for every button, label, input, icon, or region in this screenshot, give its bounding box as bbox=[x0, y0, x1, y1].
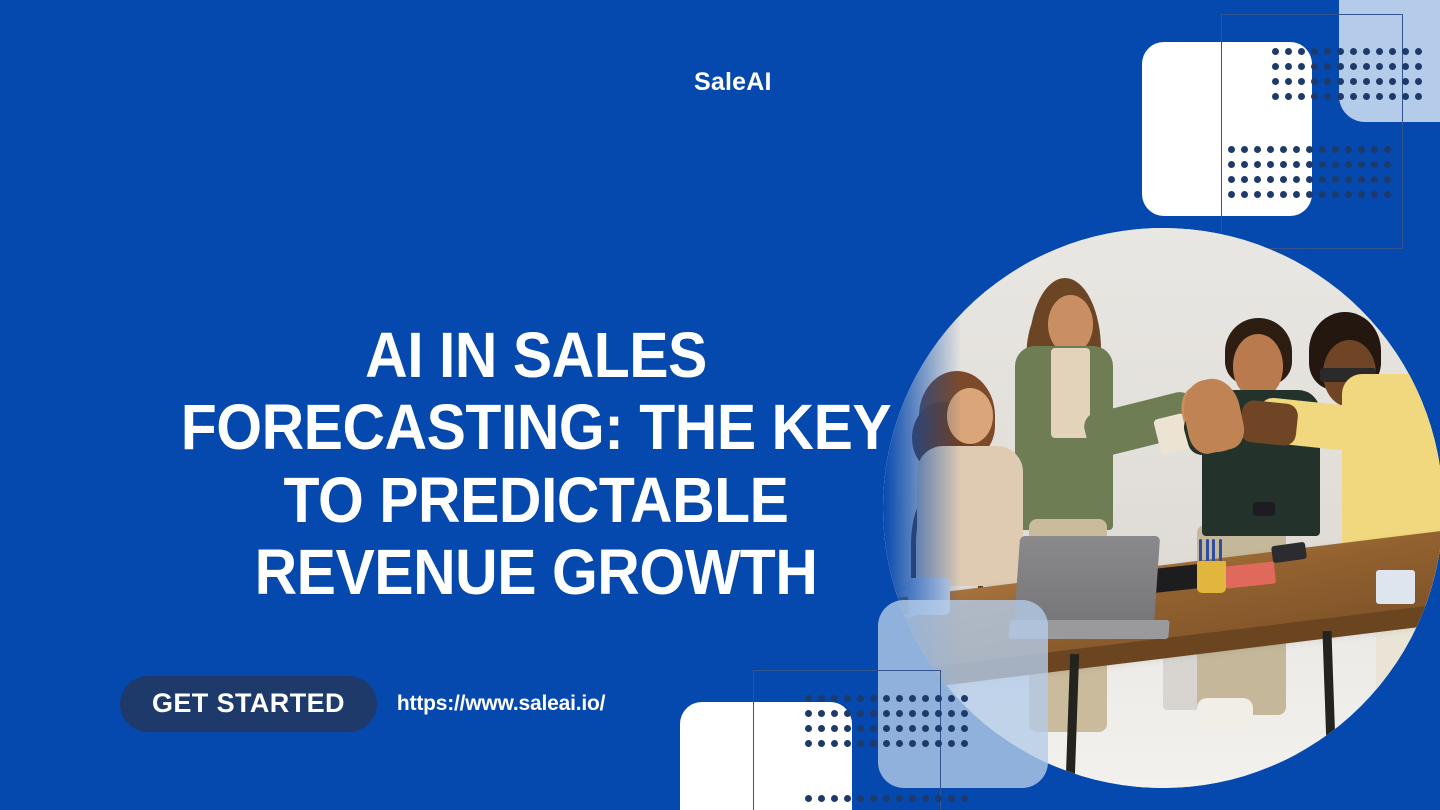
dot bbox=[1228, 146, 1235, 153]
dot bbox=[1415, 93, 1422, 100]
dot bbox=[1332, 161, 1339, 168]
dot bbox=[805, 740, 812, 747]
dot bbox=[1371, 161, 1378, 168]
dot bbox=[1345, 146, 1352, 153]
dot bbox=[1298, 63, 1305, 70]
dot bbox=[1337, 48, 1344, 55]
dot bbox=[1293, 146, 1300, 153]
dot bbox=[935, 710, 942, 717]
dot bbox=[857, 795, 864, 802]
dot bbox=[831, 795, 838, 802]
dot bbox=[844, 740, 851, 747]
dot bbox=[1280, 161, 1287, 168]
dot bbox=[1280, 191, 1287, 198]
dot bbox=[883, 710, 890, 717]
dot bbox=[1254, 146, 1261, 153]
dot bbox=[1345, 161, 1352, 168]
dot bbox=[870, 795, 877, 802]
dot bbox=[1324, 78, 1331, 85]
dot bbox=[1371, 191, 1378, 198]
dot bbox=[1402, 48, 1409, 55]
dot-grid-top-right-lower bbox=[1228, 146, 1397, 206]
dot bbox=[1311, 63, 1318, 70]
dot bbox=[818, 740, 825, 747]
dot bbox=[961, 795, 968, 802]
dot bbox=[857, 740, 864, 747]
dot bbox=[1358, 191, 1365, 198]
dot bbox=[961, 695, 968, 702]
dot bbox=[1267, 146, 1274, 153]
dot bbox=[1402, 78, 1409, 85]
dot bbox=[1415, 78, 1422, 85]
dot bbox=[1350, 78, 1357, 85]
dot bbox=[896, 795, 903, 802]
dot bbox=[1384, 191, 1391, 198]
person-shoe bbox=[1197, 698, 1253, 732]
dot bbox=[1415, 63, 1422, 70]
dot bbox=[844, 725, 851, 732]
dot bbox=[1306, 176, 1313, 183]
dot bbox=[857, 710, 864, 717]
dot bbox=[935, 695, 942, 702]
brand-logo: SaleAI bbox=[694, 68, 772, 97]
dot bbox=[1298, 78, 1305, 85]
dot bbox=[909, 695, 916, 702]
dot bbox=[1285, 93, 1292, 100]
dot bbox=[1337, 93, 1344, 100]
dot bbox=[896, 695, 903, 702]
dot bbox=[1358, 146, 1365, 153]
dot bbox=[1272, 48, 1279, 55]
dot bbox=[1371, 176, 1378, 183]
dot bbox=[883, 725, 890, 732]
dot bbox=[805, 710, 812, 717]
dot bbox=[844, 710, 851, 717]
dot bbox=[831, 740, 838, 747]
dot bbox=[1319, 191, 1326, 198]
dot bbox=[844, 695, 851, 702]
dot bbox=[1319, 161, 1326, 168]
dot bbox=[1298, 48, 1305, 55]
dot bbox=[1241, 146, 1248, 153]
dot bbox=[922, 695, 929, 702]
dot bbox=[1285, 78, 1292, 85]
coffee-mug bbox=[1376, 570, 1415, 605]
dot bbox=[948, 695, 955, 702]
dot bbox=[1358, 161, 1365, 168]
dot bbox=[870, 710, 877, 717]
dot bbox=[870, 695, 877, 702]
dot bbox=[1363, 48, 1370, 55]
dot bbox=[1384, 146, 1391, 153]
dot bbox=[1272, 93, 1279, 100]
dot bbox=[857, 695, 864, 702]
dot bbox=[1371, 146, 1378, 153]
website-url-link[interactable]: https://www.saleai.io/ bbox=[397, 692, 605, 716]
dot bbox=[909, 740, 916, 747]
dot bbox=[961, 710, 968, 717]
dot bbox=[1324, 63, 1331, 70]
dot bbox=[922, 740, 929, 747]
dot bbox=[1350, 63, 1357, 70]
dot bbox=[948, 725, 955, 732]
dot bbox=[896, 710, 903, 717]
dot bbox=[870, 740, 877, 747]
dot bbox=[1254, 161, 1261, 168]
wristwatch bbox=[1253, 502, 1275, 516]
get-started-button[interactable]: GET STARTED bbox=[120, 676, 377, 732]
dot bbox=[1306, 191, 1313, 198]
dot bbox=[1389, 93, 1396, 100]
dot bbox=[1298, 93, 1305, 100]
dot bbox=[896, 740, 903, 747]
pens bbox=[1199, 539, 1225, 564]
dot bbox=[1350, 93, 1357, 100]
dot bbox=[1267, 191, 1274, 198]
dot bbox=[922, 795, 929, 802]
dot bbox=[1332, 176, 1339, 183]
dot bbox=[922, 725, 929, 732]
dot bbox=[1363, 63, 1370, 70]
dot bbox=[844, 795, 851, 802]
dot bbox=[857, 725, 864, 732]
dot bbox=[883, 695, 890, 702]
dot bbox=[818, 725, 825, 732]
dot bbox=[948, 740, 955, 747]
dot bbox=[1254, 191, 1261, 198]
dot bbox=[1389, 48, 1396, 55]
dot bbox=[805, 795, 812, 802]
dot bbox=[1293, 161, 1300, 168]
dot bbox=[1332, 191, 1339, 198]
person-head bbox=[1233, 334, 1283, 398]
dot bbox=[1384, 176, 1391, 183]
dot bbox=[1389, 78, 1396, 85]
page-title: AI IN SALES FORECASTING: THE KEY TO PRED… bbox=[151, 319, 920, 608]
dot bbox=[1306, 161, 1313, 168]
dot bbox=[1280, 176, 1287, 183]
dot bbox=[935, 740, 942, 747]
dot bbox=[1267, 161, 1274, 168]
dot bbox=[1293, 191, 1300, 198]
dot bbox=[961, 725, 968, 732]
dot bbox=[909, 710, 916, 717]
dot bbox=[1285, 48, 1292, 55]
dot bbox=[1415, 48, 1422, 55]
dot bbox=[831, 725, 838, 732]
dot bbox=[1272, 78, 1279, 85]
dot bbox=[1311, 48, 1318, 55]
dot bbox=[1228, 191, 1235, 198]
dot bbox=[1376, 93, 1383, 100]
dot bbox=[1267, 176, 1274, 183]
dot bbox=[909, 795, 916, 802]
dot bbox=[922, 710, 929, 717]
dot bbox=[1272, 63, 1279, 70]
dot bbox=[831, 710, 838, 717]
cta-row: GET STARTED https://www.saleai.io/ bbox=[120, 676, 605, 732]
dot bbox=[961, 740, 968, 747]
dot bbox=[1358, 176, 1365, 183]
dot bbox=[1337, 78, 1344, 85]
dot bbox=[1345, 176, 1352, 183]
dot bbox=[1241, 161, 1248, 168]
dot bbox=[1376, 78, 1383, 85]
dot bbox=[1389, 63, 1396, 70]
dot bbox=[870, 725, 877, 732]
dot bbox=[935, 725, 942, 732]
dot bbox=[1324, 48, 1331, 55]
dot bbox=[935, 795, 942, 802]
dot bbox=[1363, 93, 1370, 100]
dot bbox=[1311, 78, 1318, 85]
dot bbox=[1311, 93, 1318, 100]
dot bbox=[805, 725, 812, 732]
dot-grid-bottom-left bbox=[805, 695, 974, 755]
dot bbox=[818, 710, 825, 717]
person-forearm bbox=[1239, 399, 1299, 447]
dot bbox=[1324, 93, 1331, 100]
dot bbox=[896, 725, 903, 732]
dot bbox=[1337, 63, 1344, 70]
dot bbox=[1332, 146, 1339, 153]
dot bbox=[818, 695, 825, 702]
dot bbox=[1345, 191, 1352, 198]
dot bbox=[883, 740, 890, 747]
dot bbox=[1285, 63, 1292, 70]
dot bbox=[1376, 48, 1383, 55]
dot bbox=[1254, 176, 1261, 183]
dot-grid-bottom-left-lower bbox=[805, 795, 974, 810]
dot bbox=[948, 710, 955, 717]
dot bbox=[1319, 176, 1326, 183]
person-torso bbox=[1342, 374, 1440, 559]
dot bbox=[1384, 161, 1391, 168]
dot bbox=[883, 795, 890, 802]
dot bbox=[1376, 63, 1383, 70]
dot bbox=[948, 795, 955, 802]
dot bbox=[1306, 146, 1313, 153]
pen-cup bbox=[1197, 561, 1226, 592]
hero-banner: SaleAI AI IN SALES FORECASTING: THE KEY … bbox=[0, 0, 1440, 810]
dot bbox=[1241, 176, 1248, 183]
dot bbox=[831, 695, 838, 702]
dot bbox=[1280, 146, 1287, 153]
dot bbox=[1228, 161, 1235, 168]
dot-grid-top-right bbox=[1272, 48, 1428, 108]
dot bbox=[805, 695, 812, 702]
dot bbox=[1241, 191, 1248, 198]
dot bbox=[1363, 78, 1370, 85]
dot bbox=[1350, 48, 1357, 55]
dot bbox=[1402, 63, 1409, 70]
dot bbox=[1228, 176, 1235, 183]
dot bbox=[1293, 176, 1300, 183]
dot bbox=[1402, 93, 1409, 100]
dot bbox=[1319, 146, 1326, 153]
dot bbox=[909, 725, 916, 732]
dot bbox=[818, 795, 825, 802]
